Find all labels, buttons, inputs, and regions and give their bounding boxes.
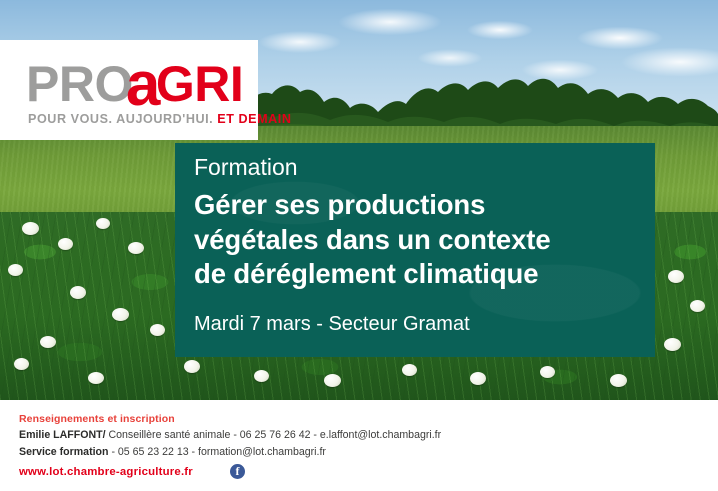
contact-line-service: Service formation - 05 65 23 22 13 - for… [19,446,326,458]
training-headline: Gérer ses productions végétales dans un … [194,188,644,292]
advisor-name: Emilie LAFFONT/ [19,429,106,441]
clover-flower [96,218,110,229]
clover-flower [610,374,627,387]
clover-flower [40,336,56,348]
facebook-icon[interactable]: f [230,464,245,479]
proagri-logo-box: PROaGRI POUR VOUS. AUJOURD'HUI. ET DEMAI… [0,40,258,140]
clover-flower [470,372,486,385]
clover-flower [128,242,144,254]
clover-flower [184,360,200,373]
advisor-details: Conseillère santé animale - 06 25 76 26 … [106,429,442,441]
service-label: Service formation [19,446,109,458]
poster-root: PROaGRI POUR VOUS. AUJOURD'HUI. ET DEMAI… [0,0,718,491]
headline-line-3: de déréglement climatique [194,257,644,292]
tagline-second-part: ET DEMAIN [217,112,291,126]
clover-flower [70,286,86,299]
date-location-subline: Mardi 7 mars - Secteur Gramat [194,311,470,337]
clover-flower [668,270,684,283]
clover-flower [664,338,681,351]
clover-flower [8,264,23,276]
clover-flower [88,372,104,384]
proagri-wordmark: PROaGRI [26,54,243,108]
contact-line-advisor: Emilie LAFFONT/ Conseillère santé animal… [19,429,441,441]
clover-flower [324,374,341,387]
headline-line-1: Gérer ses productions [194,188,644,223]
wordmark-agri: GRI [156,56,243,112]
footer-region: Renseignements et inscription Emilie LAF… [0,400,718,491]
clover-flower [14,358,29,370]
website-link[interactable]: www.lot.chambre-agriculture.fr [19,466,193,478]
clover-flower [150,324,165,336]
clover-flower [690,300,705,312]
headline-line-2: végétales dans un contexte [194,223,644,258]
wordmark-a: a [126,50,160,119]
clover-flower [254,370,269,382]
teal-content-panel: Formation Gérer ses productions végétale… [175,143,655,357]
service-details: - 05 65 23 22 13 - formation@lot.chambag… [109,446,326,458]
footer-section-title: Renseignements et inscription [19,413,175,425]
clover-flower [22,222,39,235]
clover-flower [112,308,129,321]
wordmark-pro: PRO [26,56,133,112]
clover-flower [540,366,555,378]
tagline-first-part: POUR VOUS. AUJOURD'HUI. [28,112,213,126]
clover-flower [58,238,73,250]
proagri-tagline: POUR VOUS. AUJOURD'HUI. ET DEMAIN [28,112,292,126]
clover-flower [402,364,417,376]
formation-kicker: Formation [194,153,298,181]
